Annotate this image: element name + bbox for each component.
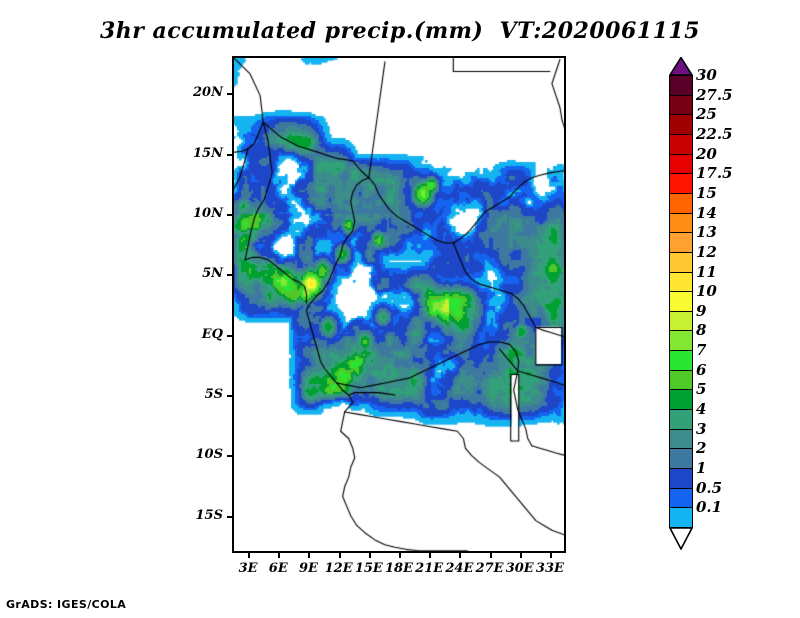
lat-tick-label-10S: 10S <box>171 447 223 462</box>
colorbar-band-12 <box>669 252 693 273</box>
colorbar-band-4 <box>669 409 693 430</box>
colorbar-label-10: 10 <box>696 282 717 300</box>
colorbar-label-14: 14 <box>696 204 717 222</box>
lat-tick-label-20N: 20N <box>171 85 223 100</box>
colorbar-band-20 <box>669 154 693 175</box>
lat-tick <box>227 154 233 156</box>
colorbar-band-1 <box>669 468 693 489</box>
colorbar-band-17.5 <box>669 173 693 194</box>
colorbar-band-0.1 <box>669 507 693 528</box>
lat-tick <box>227 395 233 397</box>
precipitation-field <box>233 57 565 552</box>
colorbar-band-6 <box>669 370 693 391</box>
lon-tick <box>520 552 522 558</box>
colorbar-label-9: 9 <box>696 302 706 320</box>
colorbar-label-1: 1 <box>696 459 706 477</box>
colorbar-band-27.5 <box>669 95 693 116</box>
colorbar-band-11 <box>669 272 693 293</box>
colorbar-band-7 <box>669 350 693 371</box>
colorbar-label-0.1: 0.1 <box>696 498 722 516</box>
colorbar-band-10 <box>669 291 693 312</box>
colorbar-label-20: 20 <box>696 145 717 163</box>
colorbar-label-3: 3 <box>696 420 706 438</box>
lon-tick <box>369 552 371 558</box>
colorbar-label-13: 13 <box>696 223 717 241</box>
colorbar-band-0.5 <box>669 488 693 509</box>
colorbar-label-11: 11 <box>696 263 717 281</box>
lon-tick <box>339 552 341 558</box>
lon-tick <box>278 552 280 558</box>
colorbar-under-arrow <box>669 527 693 549</box>
colorbar-band-14 <box>669 213 693 234</box>
lon-tick <box>248 552 250 558</box>
colorbar-label-25: 25 <box>696 105 717 123</box>
precip-map-panel <box>233 57 565 552</box>
lat-tick <box>227 214 233 216</box>
colorbar-label-30: 30 <box>696 66 717 84</box>
lat-tick-label-15N: 15N <box>171 146 223 161</box>
lat-tick-label-10N: 10N <box>171 206 223 221</box>
colorbar-band-13 <box>669 232 693 253</box>
lat-tick <box>227 516 233 518</box>
lon-tick <box>459 552 461 558</box>
lon-tick-label-33E: 33E <box>528 561 572 576</box>
colorbar-label-6: 6 <box>696 361 706 379</box>
colorbar-label-12: 12 <box>696 243 717 261</box>
lat-tick <box>227 335 233 337</box>
colorbar-band-5 <box>669 389 693 410</box>
lon-tick <box>308 552 310 558</box>
grads-credit: GrADS: IGES/COLA <box>6 598 126 611</box>
lon-tick <box>490 552 492 558</box>
colorbar-label-4: 4 <box>696 400 706 418</box>
colorbar[interactable] <box>669 57 693 552</box>
lat-tick-label-EQ: EQ <box>171 327 223 342</box>
lon-tick <box>399 552 401 558</box>
colorbar-band-9 <box>669 311 693 332</box>
lat-tick <box>227 274 233 276</box>
colorbar-band-30 <box>669 75 693 96</box>
lat-tick-label-15S: 15S <box>171 508 223 523</box>
colorbar-label-5: 5 <box>696 380 706 398</box>
lon-tick <box>550 552 552 558</box>
colorbar-band-2 <box>669 448 693 469</box>
colorbar-label-8: 8 <box>696 321 706 339</box>
lat-tick <box>227 93 233 95</box>
colorbar-band-15 <box>669 193 693 214</box>
colorbar-label-27.5: 27.5 <box>696 86 733 104</box>
lat-tick-label-5N: 5N <box>171 266 223 281</box>
colorbar-label-0.5: 0.5 <box>696 479 722 497</box>
lat-tick-label-5S: 5S <box>171 387 223 402</box>
colorbar-label-15: 15 <box>696 184 717 202</box>
lon-tick <box>429 552 431 558</box>
colorbar-band-25 <box>669 114 693 135</box>
page-title: 3hr accumulated precip.(mm) VT:202006111… <box>0 18 800 44</box>
colorbar-label-7: 7 <box>696 341 706 359</box>
colorbar-band-22.5 <box>669 134 693 155</box>
lat-tick <box>227 455 233 457</box>
colorbar-label-17.5: 17.5 <box>696 164 733 182</box>
colorbar-band-3 <box>669 429 693 450</box>
colorbar-label-22.5: 22.5 <box>696 125 733 143</box>
colorbar-label-2: 2 <box>696 439 706 457</box>
colorbar-band-8 <box>669 330 693 351</box>
